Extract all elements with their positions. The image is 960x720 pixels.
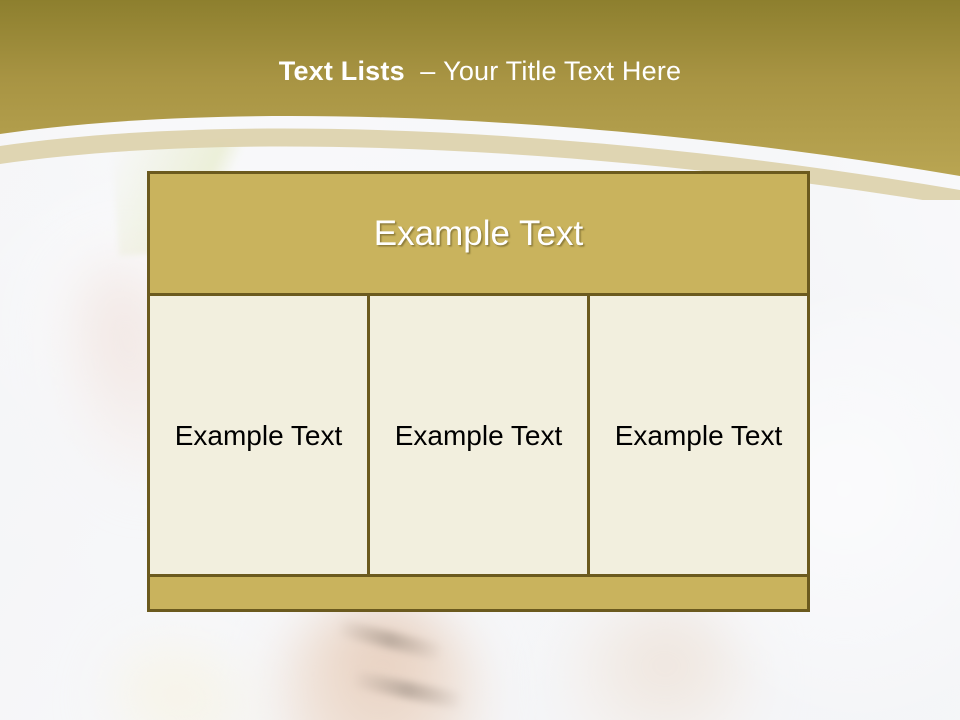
slide-title-separator: – bbox=[420, 56, 435, 86]
table-footer-row[interactable] bbox=[150, 574, 807, 609]
table-cell-3-text: Example Text bbox=[615, 417, 783, 454]
slide-title-bold: Text Lists bbox=[279, 56, 405, 86]
header-band: Text Lists – Your Title Text Here bbox=[0, 0, 960, 200]
table-cell-2-text: Example Text bbox=[395, 417, 563, 454]
table-body-row: Example Text Example Text Example Text bbox=[150, 296, 807, 574]
slide-title: Text Lists – Your Title Text Here bbox=[0, 54, 960, 88]
content-table: Example Text Example Text Example Text E… bbox=[147, 171, 810, 612]
table-cell-1-text: Example Text bbox=[175, 417, 343, 454]
slide-canvas: Text Lists – Your Title Text Here Exampl… bbox=[0, 0, 960, 720]
table-cell-1[interactable]: Example Text bbox=[150, 296, 367, 574]
table-header-text: Example Text bbox=[374, 213, 583, 255]
table-header-row[interactable]: Example Text bbox=[150, 174, 807, 296]
slide-title-light: Your Title Text Here bbox=[443, 56, 681, 86]
table-cell-2[interactable]: Example Text bbox=[370, 296, 587, 574]
table-cell-3[interactable]: Example Text bbox=[590, 296, 807, 574]
